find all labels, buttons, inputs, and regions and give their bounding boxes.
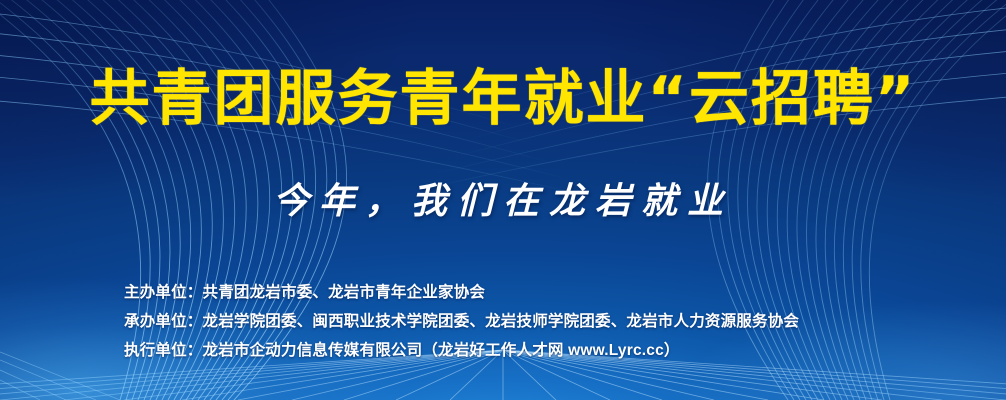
recruitment-banner: 共青团服务青年就业“云招聘” 今年，我们在龙岩就业 主办单位：共青团龙岩市委、龙…	[0, 0, 1006, 400]
banner-title: 共青团服务青年就业“云招聘”	[0, 62, 1006, 136]
credit-line-organizer: 主办单位：共青团龙岩市委、龙岩市青年企业家协会	[124, 278, 799, 307]
credit-line-executor: 执行单位：龙岩市企动力信息传媒有限公司（龙岩好工作人才网 www.Lyrc.cc…	[124, 336, 799, 365]
credits-block: 主办单位：共青团龙岩市委、龙岩市青年企业家协会 承办单位：龙岩学院团委、闽西职业…	[124, 278, 799, 365]
credit-line-coorganizer: 承办单位：龙岩学院团委、闽西职业技术学院团委、龙岩技师学院团委、龙岩市人力资源服…	[124, 307, 799, 336]
banner-subtitle: 今年，我们在龙岩就业	[0, 178, 1006, 224]
banner-content: 共青团服务青年就业“云招聘” 今年，我们在龙岩就业 主办单位：共青团龙岩市委、龙…	[0, 0, 1006, 400]
